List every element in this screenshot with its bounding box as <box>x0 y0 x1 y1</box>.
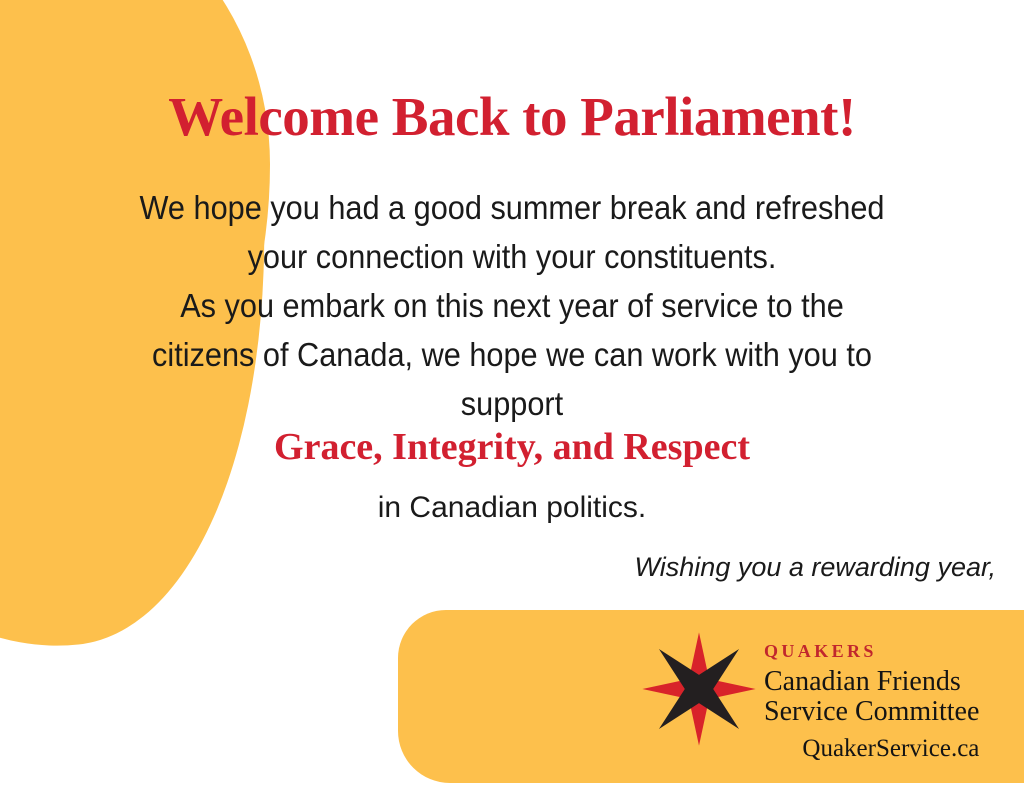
body-line-4: citizens of Canada, we hope we can work … <box>125 330 899 379</box>
logo-quakers-label: QUAKERS <box>764 642 979 660</box>
body-line-1: We hope you had a good summer break and … <box>125 183 899 232</box>
body-line-2: your connection with your constituents. <box>125 232 899 281</box>
poster-headline: Welcome Back to Parliament! <box>0 88 1024 146</box>
quaker-star-icon <box>640 630 758 748</box>
body-line-3: As you embark on this next year of servi… <box>125 281 899 330</box>
poster-signoff: Wishing you a rewarding year, <box>635 552 996 583</box>
quaker-service-logo: QUAKERS Canadian Friends Service Committ… <box>640 628 990 768</box>
poster-canvas: Welcome Back to Parliament! We hope you … <box>0 0 1024 791</box>
body-line-5: support <box>125 379 899 428</box>
logo-website-url: QuakerService.ca <box>764 736 979 761</box>
poster-pillars-statement: Grace, Integrity, and Respect <box>0 427 1024 469</box>
poster-body-copy: We hope you had a good summer break and … <box>125 183 899 428</box>
logo-wordmark: QUAKERS Canadian Friends Service Committ… <box>764 628 979 761</box>
logo-org-line-2: Service Committee <box>764 697 979 727</box>
logo-org-line-1: Canadian Friends <box>764 667 979 697</box>
poster-closing-line: in Canadian politics. <box>0 491 1024 525</box>
